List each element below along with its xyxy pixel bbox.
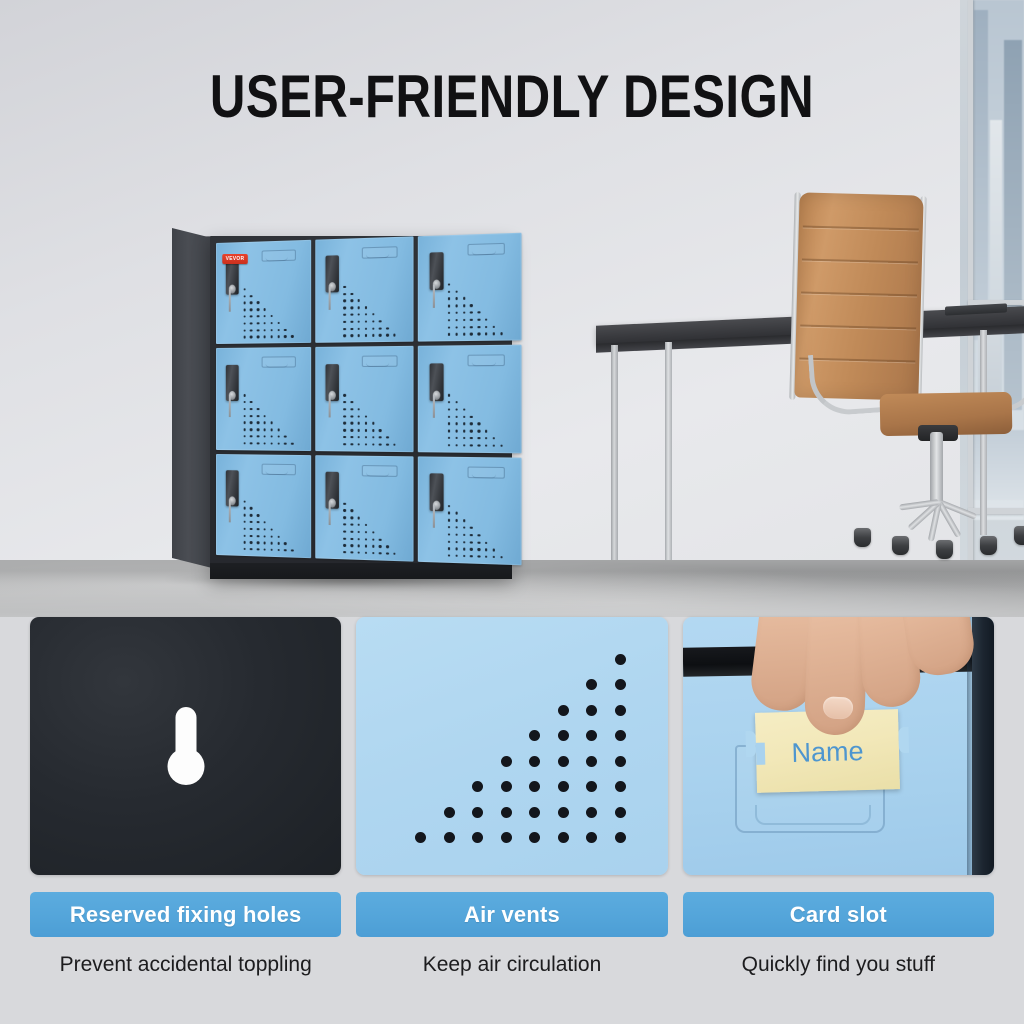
vent-dot [615, 807, 626, 818]
vent-dot [444, 832, 455, 843]
brand-logo-badge: VEVOR [222, 254, 248, 264]
feature-caption-card-slot: Quickly find you stuff [683, 953, 994, 977]
vent-dot [501, 756, 512, 767]
door-card-slot [467, 243, 504, 256]
fixing-holes-image [30, 617, 341, 875]
locker-door[interactable] [418, 456, 521, 565]
vent-dot-pattern [404, 635, 626, 843]
door-card-slot [261, 250, 295, 262]
vent-dot [529, 730, 540, 741]
feature-caption-fixing-holes: Prevent accidental toppling [30, 953, 341, 977]
vent-dot [615, 679, 626, 690]
vent-dot [586, 832, 597, 843]
door-vent-pattern [242, 498, 304, 548]
door-key [432, 284, 434, 307]
chair-rib [802, 258, 918, 263]
chair-caster [936, 540, 953, 559]
vent-dot [558, 705, 569, 716]
door-vent-pattern [446, 503, 514, 556]
door-key [329, 395, 331, 418]
card-slot-image: Name [683, 617, 994, 875]
chair-caster [892, 536, 909, 555]
chair-caster [854, 528, 871, 547]
vent-dot [586, 807, 597, 818]
vent-dot [615, 832, 626, 843]
door-key [329, 287, 331, 310]
desk-leg [665, 342, 672, 560]
door-key [229, 395, 231, 417]
door-key [432, 505, 434, 528]
locker-door-grid [216, 233, 522, 566]
chair-rib [800, 324, 916, 329]
door-vent-pattern [342, 501, 407, 552]
door-card-slot [362, 246, 398, 258]
feature-label-fixing-holes: Reserved fixing holes [30, 892, 341, 937]
vent-dot [444, 807, 455, 818]
vent-dot [615, 654, 626, 665]
feature-label-card-slot: Card slot [683, 892, 994, 937]
door-key [229, 501, 231, 523]
door-card-slot [261, 357, 295, 368]
door-key [229, 289, 231, 311]
vent-dot [501, 832, 512, 843]
door-vent-pattern [342, 392, 407, 442]
vent-dot [558, 832, 569, 843]
locker-door[interactable] [315, 455, 414, 562]
product-feature-page: VEVOR USER-FRIENDLY DESIGN Reserved fixi… [0, 0, 1024, 1024]
vent-dot [472, 781, 483, 792]
door-key [432, 395, 434, 418]
feature-label-air-vents: Air vents [356, 892, 667, 937]
cabinet-plinth [210, 563, 512, 579]
chair-caster [980, 536, 997, 555]
vent-dot [529, 756, 540, 767]
feature-air-vents: Air vents Keep air circulation [356, 617, 667, 1024]
door-card-slot [261, 463, 295, 475]
door-card-slot [467, 355, 504, 367]
door-vent-pattern [342, 283, 407, 334]
vent-dot [615, 705, 626, 716]
vent-dot [586, 705, 597, 716]
vent-dot [529, 781, 540, 792]
office-window [960, 0, 1024, 570]
vent-dot [472, 807, 483, 818]
keyhole-bulb [167, 748, 204, 785]
keyhole-icon [165, 707, 207, 785]
door-vent-pattern [242, 392, 304, 441]
vent-dot [586, 756, 597, 767]
vent-dot [472, 832, 483, 843]
door-card-slot [467, 466, 504, 478]
vent-dot [615, 756, 626, 767]
locker-door[interactable] [315, 236, 414, 343]
concrete-floor [0, 560, 1024, 620]
feature-caption-air-vents: Keep air circulation [356, 953, 667, 977]
feature-row: Reserved fixing holes Prevent accidental… [0, 617, 1024, 1024]
door-vent-pattern [446, 280, 514, 332]
building [974, 10, 988, 340]
vent-dot [501, 781, 512, 792]
vent-dot [558, 730, 569, 741]
chair-rib [803, 226, 919, 231]
vent-dot [586, 730, 597, 741]
hand-illustration [751, 617, 983, 787]
cabinet-side-panel [172, 228, 212, 568]
locker-door[interactable] [216, 454, 311, 559]
chair-rib [801, 291, 917, 296]
locker-door[interactable] [418, 233, 521, 342]
air-vents-image [356, 617, 667, 875]
locker-door[interactable] [315, 346, 414, 452]
door-key [329, 503, 331, 526]
vent-dot [558, 807, 569, 818]
page-title: USER-FRIENDLY DESIGN [92, 62, 932, 131]
chair-gas-cylinder [930, 432, 943, 506]
vent-dot [501, 807, 512, 818]
door-vent-pattern [446, 392, 514, 443]
vent-dot [529, 807, 540, 818]
vent-dot [558, 781, 569, 792]
vent-dot [586, 781, 597, 792]
locker-door[interactable] [216, 347, 311, 450]
door-card-slot [362, 356, 398, 368]
vent-dot [615, 730, 626, 741]
vent-dot [615, 781, 626, 792]
feature-card-slot: Name Card slot Quickly find you stuff [683, 617, 994, 1024]
vent-dot [415, 832, 426, 843]
door-vent-pattern [242, 285, 304, 335]
door-card-slot [362, 465, 398, 477]
window-mullion [968, 0, 973, 570]
vent-dot [558, 756, 569, 767]
hero-photo: VEVOR USER-FRIENDLY DESIGN [0, 0, 1024, 620]
brand-logo-text: VEVOR [222, 254, 248, 264]
fingernail [822, 696, 853, 720]
feature-fixing-holes: Reserved fixing holes Prevent accidental… [30, 617, 341, 1024]
vent-dot [586, 679, 597, 690]
desk-leg [611, 345, 618, 560]
vent-dot [529, 832, 540, 843]
locker-cabinet: VEVOR [172, 228, 512, 580]
locker-door[interactable] [418, 345, 521, 453]
chair-base [848, 500, 1024, 542]
chair-caster [1014, 526, 1024, 545]
